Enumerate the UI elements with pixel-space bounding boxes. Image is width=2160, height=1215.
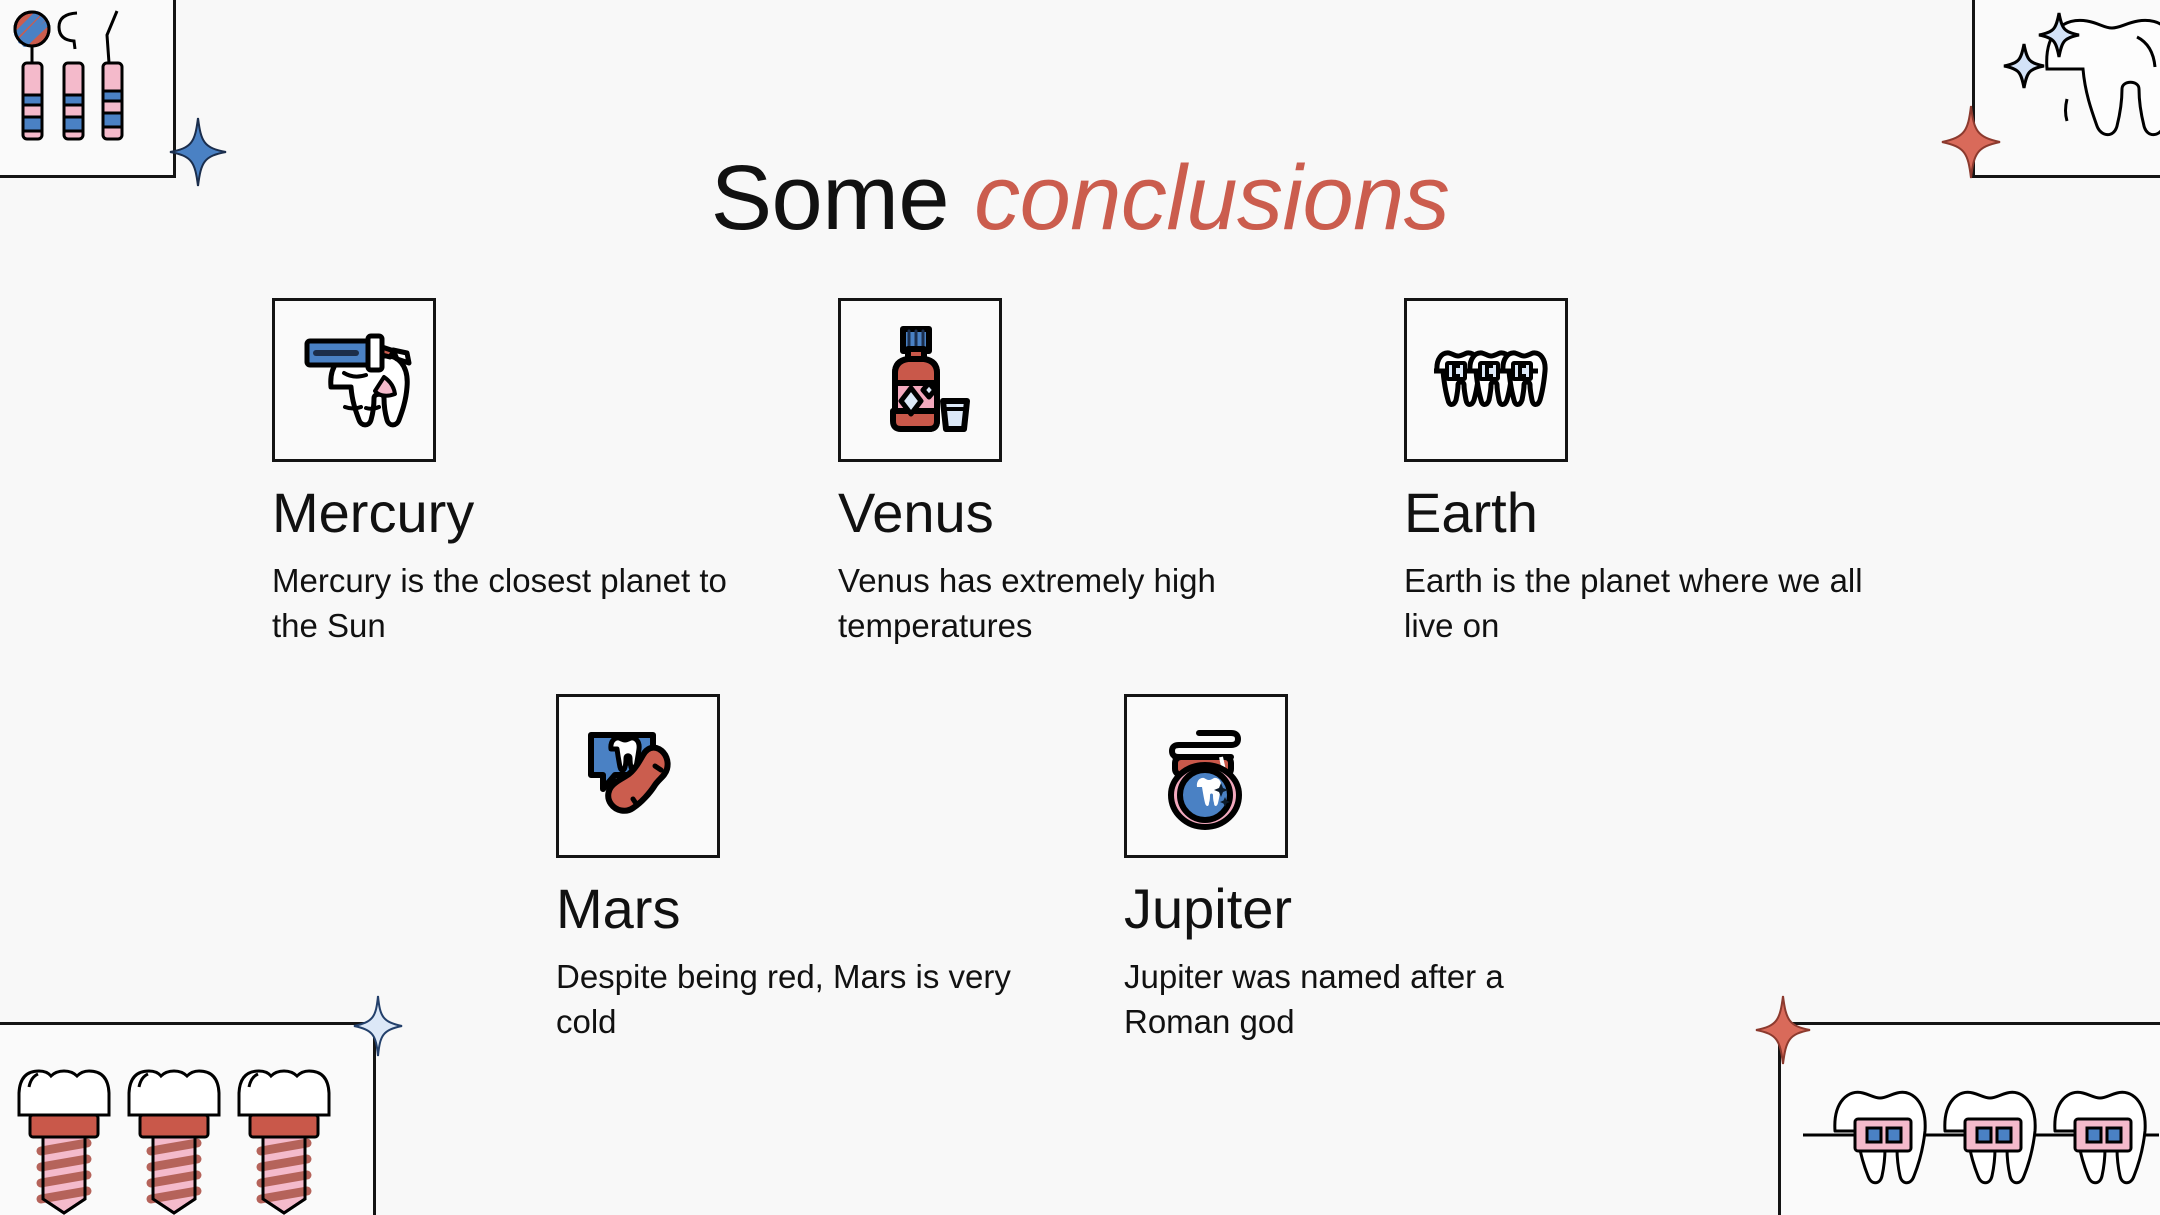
four-point-star-icon <box>352 994 404 1058</box>
star-decoration-bottom-left <box>352 994 404 1063</box>
icon-frame-venus <box>838 298 1002 462</box>
conclusion-card-earth[interactable]: Earth Earth is the planet where we all l… <box>1404 298 1894 649</box>
page-title: Some conclusions <box>0 150 2160 247</box>
page-title-accent: conclusions <box>974 147 1449 249</box>
dental-appointment-call-icon <box>573 711 703 841</box>
orthodontic-braces-teeth-icon <box>1781 1025 2160 1215</box>
dental-floss-jar-icon <box>1141 711 1271 841</box>
card-title-jupiter: Jupiter <box>1124 880 1614 939</box>
conclusion-card-jupiter[interactable]: Jupiter Jupiter was named after a Roman … <box>1124 694 1614 1045</box>
star-decoration-bottom-right <box>1754 994 1812 1071</box>
card-body-jupiter: Jupiter was named after a Roman god <box>1124 955 1614 1045</box>
page-title-lead: Some <box>711 147 974 249</box>
decoration-corner-bottom-left <box>0 1022 376 1215</box>
card-title-venus: Venus <box>838 484 1328 543</box>
dental-tools-icon <box>0 0 179 181</box>
decoration-corner-top-left <box>0 0 176 178</box>
card-body-mercury: Mercury is the closest planet to the Sun <box>272 559 762 649</box>
card-body-venus: Venus has extremely high temperatures <box>838 559 1328 649</box>
card-title-mercury: Mercury <box>272 484 762 543</box>
card-body-earth: Earth is the planet where we all live on <box>1404 559 1894 649</box>
sparkling-clean-tooth-icon <box>1975 0 2160 181</box>
icon-frame-jupiter <box>1124 694 1288 858</box>
decoration-corner-bottom-right <box>1778 1022 2160 1215</box>
card-title-earth: Earth <box>1404 484 1894 543</box>
icon-frame-earth <box>1404 298 1568 462</box>
card-body-mars: Despite being red, Mars is very cold <box>556 955 1046 1045</box>
slide-canvas: Some conclusions <box>0 0 2160 1215</box>
star-decoration-top-right <box>1940 104 2002 185</box>
conclusion-card-mercury[interactable]: Mercury Mercury is the closest planet to… <box>272 298 762 649</box>
four-point-star-icon <box>1940 104 2002 180</box>
four-point-star-icon <box>1754 994 1812 1066</box>
tooth-drill-treatment-icon <box>289 315 419 445</box>
conclusion-card-mars[interactable]: Mars Despite being red, Mars is very col… <box>556 694 1046 1045</box>
conclusion-card-venus[interactable]: Venus Venus has extremely high temperatu… <box>838 298 1328 649</box>
star-decoration-top-left <box>168 116 228 193</box>
card-title-mars: Mars <box>556 880 1046 939</box>
dental-implants-icon <box>0 1025 379 1215</box>
icon-frame-mercury <box>272 298 436 462</box>
teeth-braces-icon <box>1421 315 1551 445</box>
mouthwash-bottle-icon <box>855 315 985 445</box>
four-point-star-icon <box>168 116 228 188</box>
icon-frame-mars <box>556 694 720 858</box>
